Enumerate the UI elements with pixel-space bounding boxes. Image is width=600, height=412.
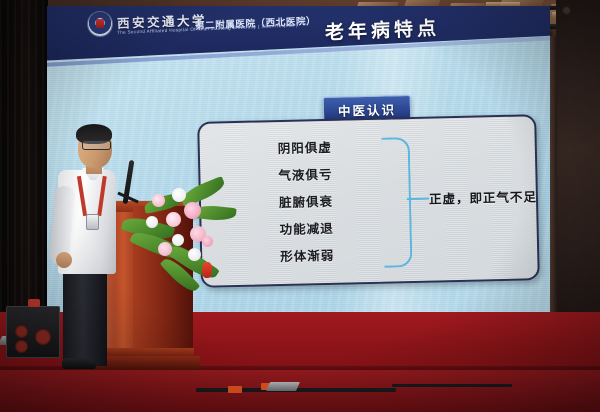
floral-arrangement bbox=[128, 176, 220, 284]
list-item: 脏腑俱衰 bbox=[279, 188, 334, 216]
university-emblem-icon bbox=[88, 12, 112, 36]
screenshot-root: 西安交通大学 第二附属医院（西北医院） The Second Affiliate… bbox=[0, 0, 600, 412]
list-item: 形体渐弱 bbox=[280, 242, 335, 270]
slide-content-card: 阴阳俱虚 气液俱亏 脏腑俱衰 功能减退 形体渐弱 正虚，即正气不足 bbox=[197, 114, 540, 288]
cable-cover bbox=[392, 384, 512, 387]
list-item: 阴阳俱虚 bbox=[277, 134, 332, 162]
name-badge bbox=[86, 214, 99, 230]
speaker-hand bbox=[56, 252, 72, 268]
list-item: 功能减退 bbox=[279, 215, 334, 243]
cable-tape-marker bbox=[228, 386, 242, 393]
cable-ramp bbox=[266, 382, 300, 391]
slide-title: 老年病特点 bbox=[324, 13, 440, 45]
eyeglasses-icon bbox=[82, 140, 111, 150]
slide-section-badge-label: 中医认识 bbox=[338, 102, 396, 118]
slide-conclusion: 正虚，即正气不足 bbox=[429, 186, 537, 207]
flight-case bbox=[6, 306, 60, 358]
curly-brace-icon bbox=[382, 137, 413, 268]
list-item: 气液俱亏 bbox=[278, 161, 333, 189]
slide-list: 阴阳俱虚 气液俱亏 脏腑俱衰 功能减退 形体渐弱 bbox=[277, 134, 334, 270]
case-accessory bbox=[28, 299, 40, 307]
speaker-shoe bbox=[62, 358, 96, 369]
speaker-legs bbox=[63, 268, 107, 366]
